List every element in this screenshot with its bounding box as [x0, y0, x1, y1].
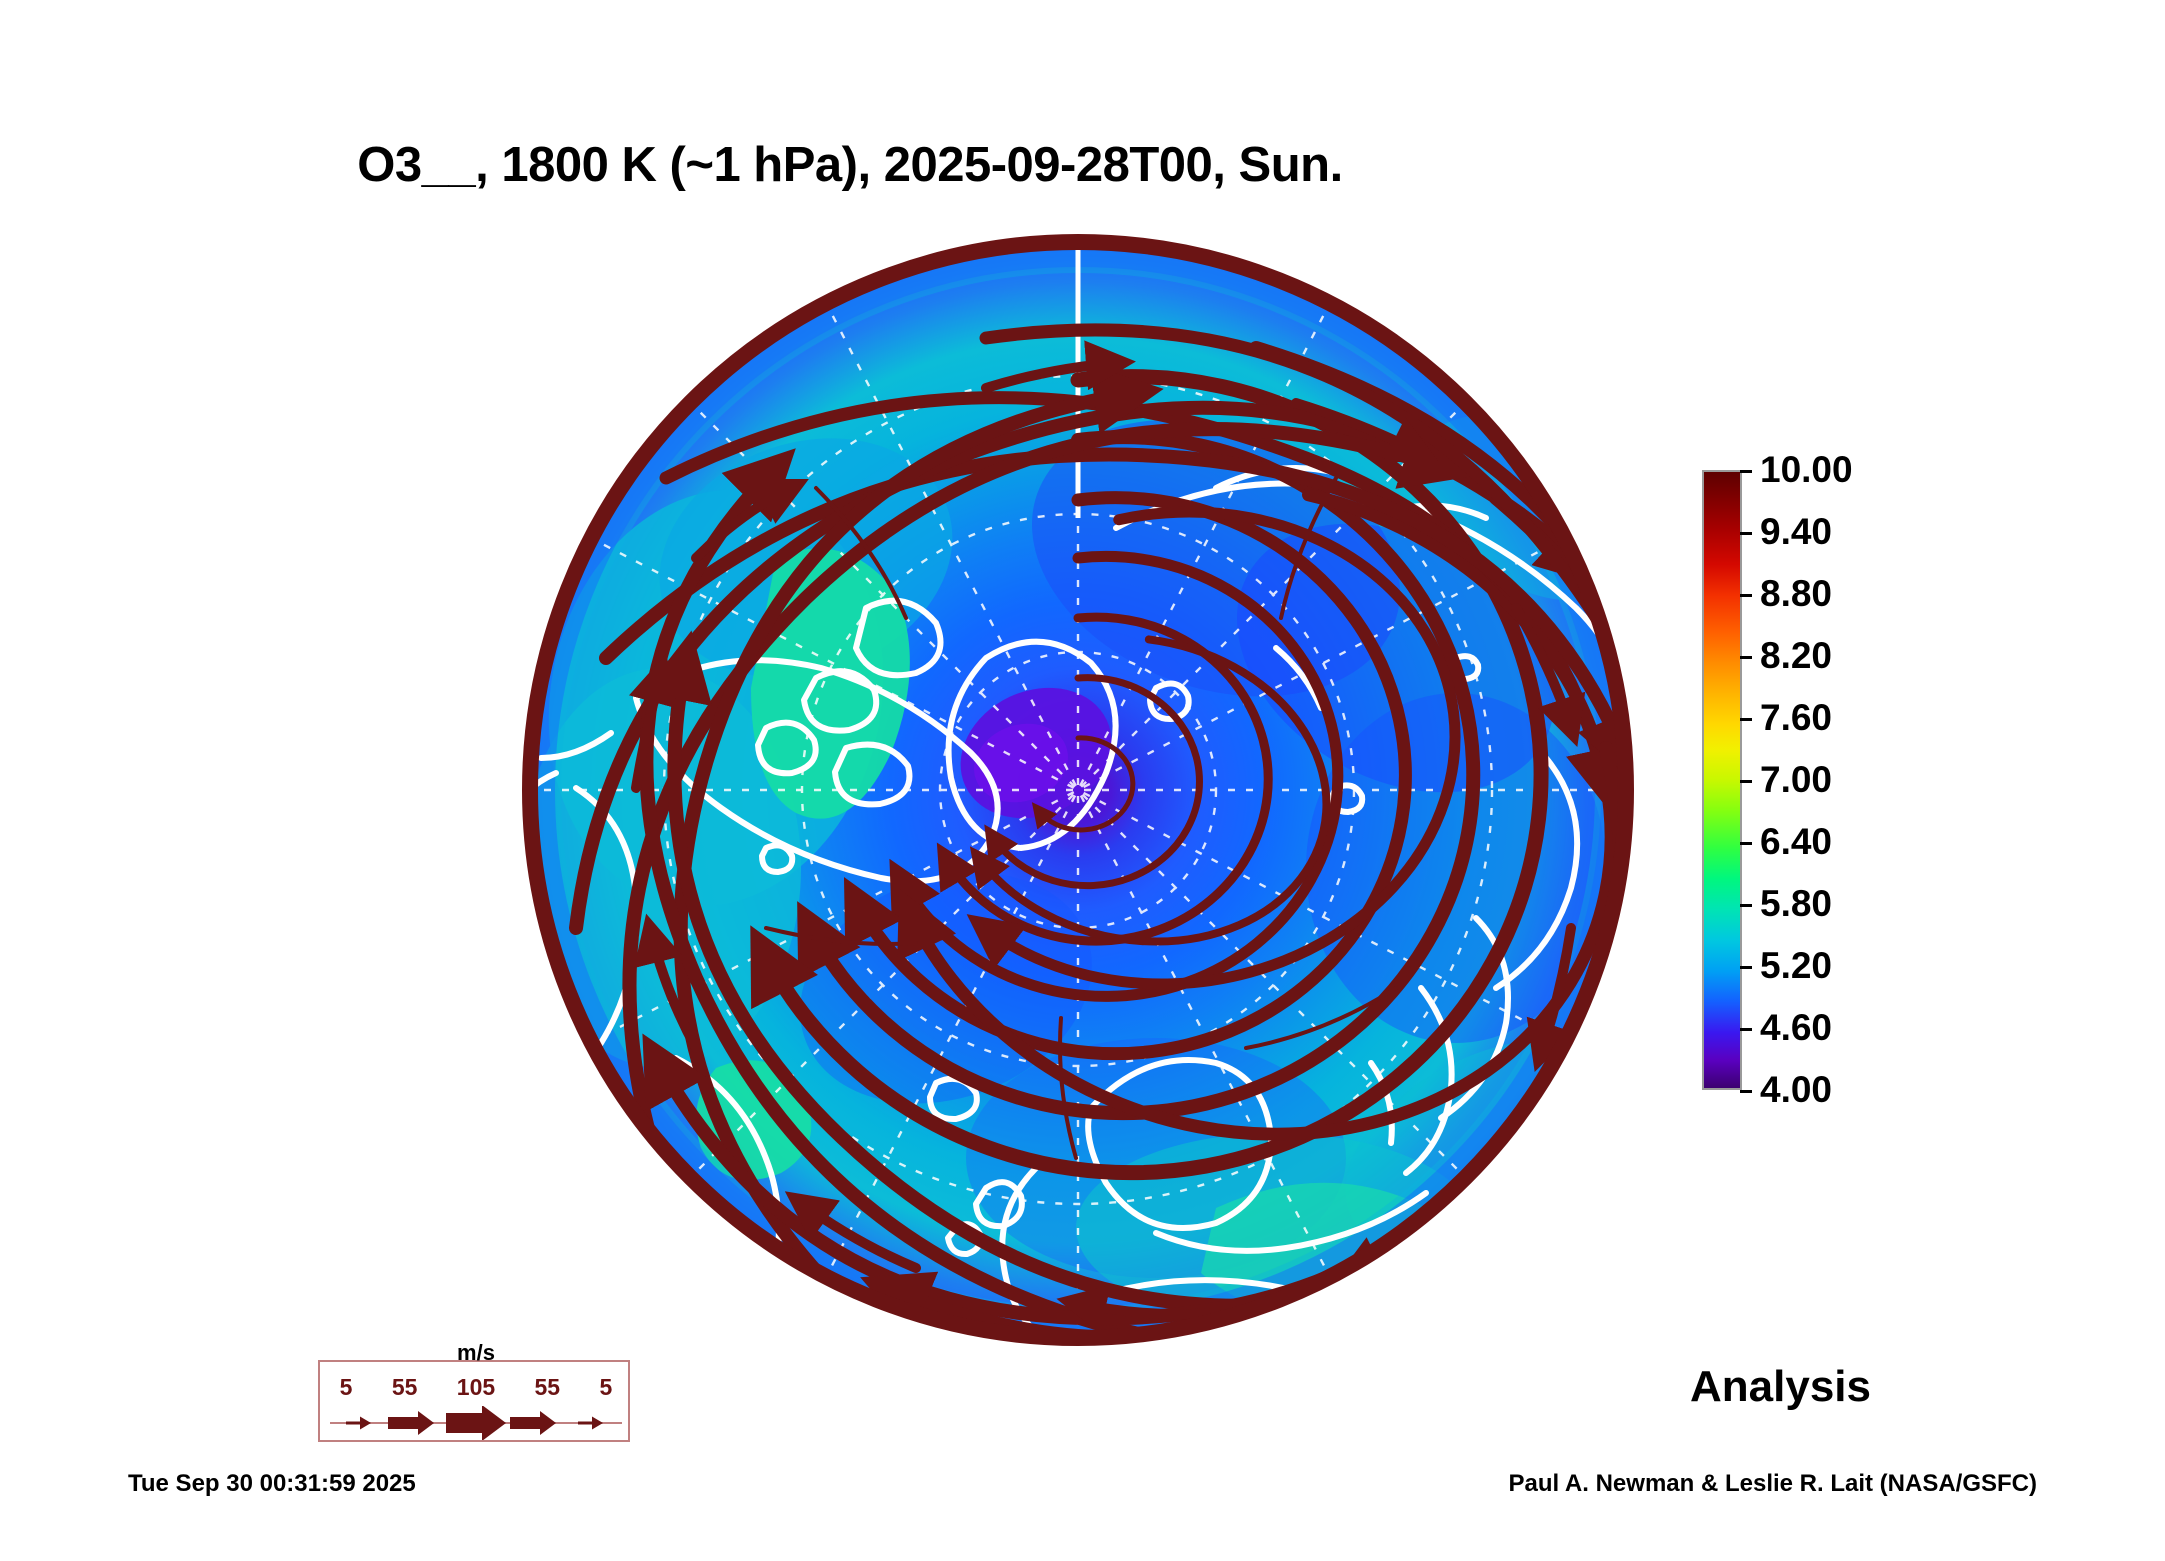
- page-title: O3__, 1800 K (~1 hPa), 2025-09-28T00, Su…: [0, 137, 1700, 193]
- wind-unit-label: m/s: [320, 1340, 632, 1366]
- colorbar-label: 9.40: [1760, 511, 1832, 553]
- timestamp: Tue Sep 30 00:31:59 2025: [128, 1470, 416, 1498]
- globe-svg: [516, 228, 1640, 1352]
- wind-speed-legend: m/s 5 55 105 55 5: [318, 1360, 630, 1442]
- colorbar-label: 4.00: [1760, 1069, 1832, 1111]
- analysis-label: Analysis: [1690, 1362, 1871, 1412]
- colorbar-label: 6.40: [1760, 821, 1832, 863]
- colorbar-tick: [1740, 1090, 1752, 1093]
- figure-canvas: O3__, 1800 K (~1 hPa), 2025-09-28T00, Su…: [0, 0, 2165, 1561]
- wind-value: 5: [599, 1374, 612, 1401]
- colorbar-label: 7.00: [1760, 759, 1832, 801]
- colorbar-label: 8.80: [1760, 573, 1832, 615]
- colorbar-tick: [1740, 780, 1752, 783]
- colorbar-label: 7.60: [1760, 697, 1832, 739]
- polar-stereographic-map: [516, 228, 1640, 1352]
- wind-value: 55: [392, 1374, 418, 1401]
- colorbar-label: 4.60: [1760, 1007, 1832, 1049]
- wind-speed-values: 5 55 105 55 5: [320, 1374, 632, 1401]
- colorbar-tick: [1740, 904, 1752, 907]
- colorbar: 10.00 9.40 8.80 8.20 7.60 7.00 6.40 5.80…: [1702, 470, 2002, 1090]
- wind-value: 55: [535, 1374, 561, 1401]
- colorbar-gradient: [1702, 470, 1742, 1090]
- colorbar-label: 8.20: [1760, 635, 1832, 677]
- colorbar-tick: [1740, 842, 1752, 845]
- colorbar-label: 5.20: [1760, 945, 1832, 987]
- colorbar-label: 5.80: [1760, 883, 1832, 925]
- wind-value: 105: [457, 1374, 495, 1401]
- colorbar-tick: [1740, 656, 1752, 659]
- colorbar-tick: [1740, 532, 1752, 535]
- colorbar-tick: [1740, 1028, 1752, 1031]
- wind-value: 5: [340, 1374, 353, 1401]
- colorbar-tick: [1740, 594, 1752, 597]
- credit-line: Paul A. Newman & Leslie R. Lait (NASA/GS…: [1508, 1470, 2037, 1498]
- colorbar-tick: [1740, 718, 1752, 721]
- wind-arrow-scale: [320, 1406, 632, 1440]
- colorbar-tick: [1740, 470, 1752, 473]
- colorbar-label: 10.00: [1760, 449, 1853, 491]
- colorbar-tick: [1740, 966, 1752, 969]
